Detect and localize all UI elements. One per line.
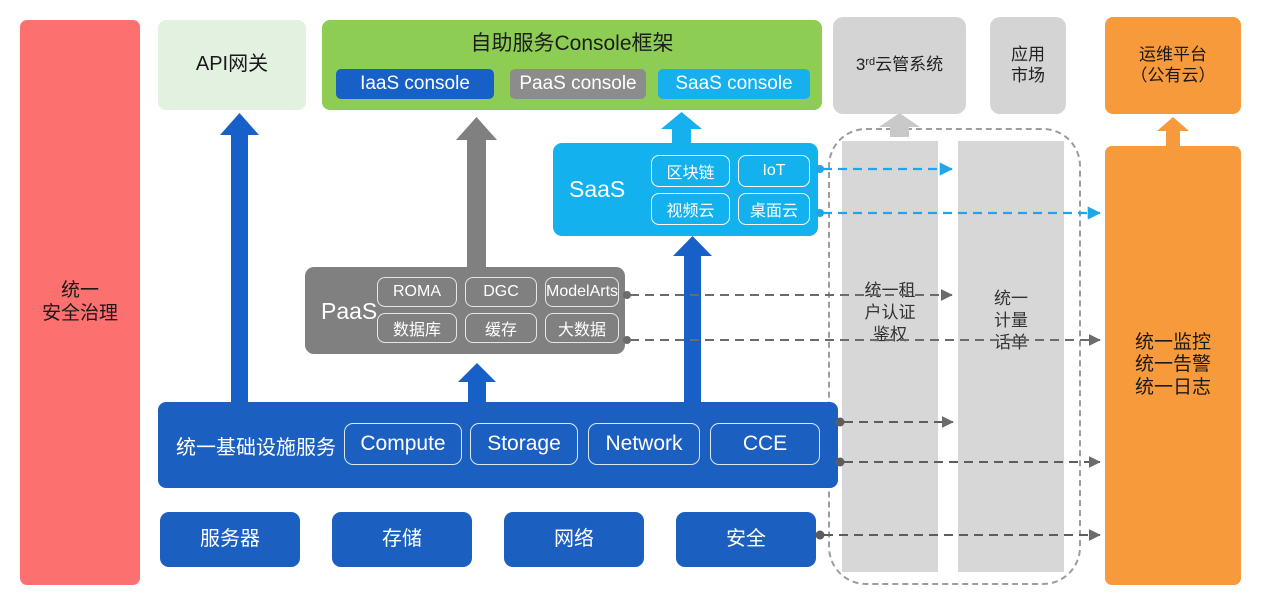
saas-item-blockchain[interactable]: 区块链	[651, 155, 730, 187]
paas-item-cache[interactable]: 缓存	[465, 313, 537, 343]
api-gateway-label: API网关	[196, 53, 268, 77]
resource-box-server[interactable]: 服务器	[160, 512, 300, 567]
paas-item-database-label: 数据库	[393, 316, 441, 340]
saas-item-iot[interactable]: IoT	[738, 155, 810, 187]
ops-platform-public-cloud-card[interactable]: 运维平台 （公有云）	[1105, 17, 1241, 114]
gray-column-metering-text: 统一 计量 话单	[958, 288, 1064, 354]
paas-panel-label: PaaS	[321, 297, 377, 325]
iaas-console-label: IaaS console	[360, 73, 470, 95]
ops-platform-line1: 运维平台	[1139, 45, 1207, 65]
ops-platform-line2: （公有云）	[1131, 66, 1216, 86]
tenant-auth-line2: 户认证	[842, 302, 938, 324]
infra-item-storage[interactable]: Storage	[470, 423, 578, 465]
paas-item-modelarts-label: ModelArts	[546, 283, 618, 301]
paas-item-dgc[interactable]: DGC	[465, 277, 537, 307]
saas-item-desktop-cloud[interactable]: 桌面云	[738, 193, 810, 225]
paas-console-label: PaaS console	[519, 73, 636, 95]
arrow-to-ops-platform	[1157, 117, 1189, 146]
tenant-auth-line1: 统一租	[842, 280, 938, 302]
infra-item-compute-label: Compute	[360, 432, 445, 456]
paas-console-chip[interactable]: PaaS console	[510, 69, 646, 99]
saas-item-video-cloud[interactable]: 视频云	[651, 193, 730, 225]
saas-panel-label: SaaS	[569, 175, 625, 203]
resource-box-security[interactable]: 安全	[676, 512, 816, 567]
saas-item-desktop-cloud-label: 桌面云	[750, 197, 798, 221]
infra-item-network[interactable]: Network	[588, 423, 700, 465]
app-market-line1: 应用	[1011, 45, 1045, 65]
metering-line1: 统一	[958, 288, 1064, 310]
iaas-console-chip[interactable]: IaaS console	[336, 69, 494, 99]
resource-box-network-label: 网络	[554, 528, 594, 552]
resource-box-security-label: 安全	[726, 528, 766, 552]
paas-item-database[interactable]: 数据库	[377, 313, 457, 343]
infra-item-storage-label: Storage	[487, 432, 561, 456]
saas-console-chip[interactable]: SaaS console	[658, 69, 810, 99]
paas-item-bigdata-label: 大数据	[558, 316, 606, 340]
saas-item-video-cloud-label: 视频云	[666, 197, 714, 221]
arrow-saas-to-console	[661, 112, 702, 143]
unified-monitoring-line1: 统一监控	[1135, 332, 1211, 354]
arrow-infra-to-paas	[458, 363, 496, 402]
saas-panel: SaaS 区块链 IoT 视频云 桌面云	[553, 143, 818, 236]
unified-security-line2: 安全治理	[42, 303, 118, 325]
infra-item-cce-label: CCE	[743, 432, 787, 456]
resource-box-network[interactable]: 网络	[504, 512, 644, 567]
resource-box-storage-label: 存储	[382, 528, 422, 552]
self-service-console-framework: 自助服务Console框架 IaaS console PaaS console …	[322, 20, 822, 110]
paas-panel: PaaS ROMA DGC ModelArts 数据库 缓存 大数据	[305, 267, 625, 354]
resource-box-server-label: 服务器	[200, 528, 260, 552]
unified-infrastructure-label: 统一基础设施服务	[176, 430, 336, 460]
infra-item-cce[interactable]: CCE	[710, 423, 820, 465]
third-party-cloud-mgmt-card[interactable]	[833, 17, 966, 114]
metering-line3: 话单	[958, 332, 1064, 354]
paas-item-modelarts[interactable]: ModelArts	[545, 277, 619, 307]
api-gateway-card[interactable]: API网关	[158, 20, 306, 110]
unified-security-line1: 统一	[61, 280, 99, 302]
gray-column-tenant-auth	[842, 141, 938, 572]
paas-item-dgc-label: DGC	[483, 283, 519, 301]
app-market-line2: 市场	[1011, 66, 1045, 86]
tenant-auth-line3: 鉴权	[842, 324, 938, 346]
resource-box-storage[interactable]: 存储	[332, 512, 472, 567]
saas-item-blockchain-label: 区块链	[666, 159, 714, 183]
arrow-infra-to-api-gateway	[220, 113, 259, 402]
saas-console-label: SaaS console	[675, 73, 792, 95]
infra-item-compute[interactable]: Compute	[344, 423, 462, 465]
unified-monitoring-column: 统一监控 统一告警 统一日志	[1105, 146, 1241, 585]
infra-item-network-label: Network	[605, 432, 682, 456]
app-market-card[interactable]: 应用 市场	[990, 17, 1066, 114]
paas-item-cache-label: 缓存	[485, 316, 517, 340]
metering-line2: 计量	[958, 310, 1064, 332]
paas-item-roma[interactable]: ROMA	[377, 277, 457, 307]
unified-monitoring-line3: 统一日志	[1135, 377, 1211, 399]
arrow-paas-to-console	[456, 117, 497, 267]
arrow-infra-to-saas	[673, 236, 712, 402]
console-framework-title: 自助服务Console框架	[322, 28, 822, 60]
unified-monitoring-line2: 统一告警	[1135, 354, 1211, 376]
unified-security-governance-column: 统一 安全治理	[20, 20, 140, 585]
paas-item-roma-label: ROMA	[393, 283, 441, 301]
gray-column-metering	[958, 141, 1064, 572]
unified-infrastructure-panel: 统一基础设施服务 Compute Storage Network CCE	[158, 402, 838, 488]
paas-item-bigdata[interactable]: 大数据	[545, 313, 619, 343]
gray-column-tenant-auth-text: 统一租 户认证 鉴权	[842, 280, 938, 346]
saas-item-iot-label: IoT	[762, 162, 785, 180]
architecture-diagram: 统一 安全治理 API网关 自助服务Console框架 IaaS console…	[0, 0, 1265, 605]
